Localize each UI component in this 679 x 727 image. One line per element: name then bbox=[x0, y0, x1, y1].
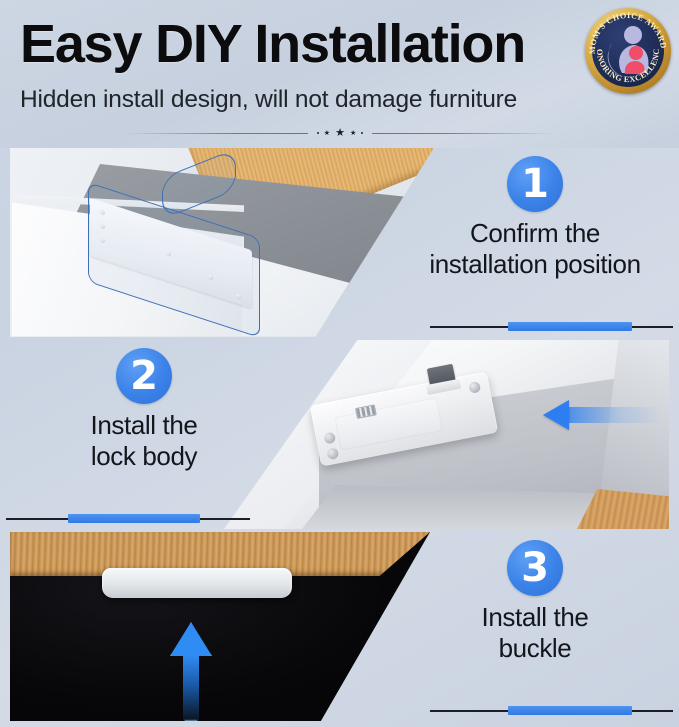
step-3-text-block: 3 Install the buckle bbox=[395, 532, 675, 721]
divider-bar-accent bbox=[508, 322, 632, 331]
arrow-tail bbox=[568, 407, 660, 423]
header-banner: Easy DIY Installation Hidden install des… bbox=[0, 0, 679, 148]
page-subtitle: Hidden install design, will not damage f… bbox=[20, 86, 640, 114]
lock-face-plate bbox=[334, 397, 443, 450]
install-direction-arrow-icon bbox=[170, 622, 212, 721]
badge-ring-text: MOM'S CHOICE AWARDS HONORING EXCELLENCE bbox=[585, 8, 671, 94]
step-3-divider-bar bbox=[430, 705, 673, 717]
step-1-caption-line-1: Confirm the bbox=[470, 218, 600, 248]
step-2-text-block: 2 Install the lock body bbox=[4, 340, 284, 529]
step-1-caption: Confirm the installation position bbox=[429, 218, 640, 279]
divider-bar-accent bbox=[508, 706, 632, 715]
step-3-panel: 3 Install the buckle bbox=[0, 532, 679, 721]
lock-port bbox=[323, 432, 336, 445]
moms-choice-awards-badge: MOM'S CHOICE AWARDS HONORING EXCELLENCE bbox=[585, 8, 671, 94]
buckle-component bbox=[102, 568, 292, 598]
step-2-caption-line-1: Install the bbox=[91, 410, 198, 440]
lock-port bbox=[326, 447, 339, 460]
step-1-divider-bar bbox=[430, 321, 673, 333]
step-3-number-badge: 3 bbox=[507, 540, 563, 596]
divider-stars: ★ ★ ★ bbox=[308, 128, 372, 139]
step-1-number-badge: 1 bbox=[507, 156, 563, 212]
step-3-caption-line-1: Install the bbox=[482, 602, 589, 632]
star-icon-small-right: ★ bbox=[350, 130, 356, 137]
step-2-panel: 2 Install the lock body bbox=[0, 340, 679, 529]
arrow-head bbox=[543, 400, 569, 430]
step-3-caption: Install the buckle bbox=[482, 602, 589, 663]
step-2-caption-line-2: lock body bbox=[91, 441, 198, 472]
star-icon-small-left: ★ bbox=[324, 130, 330, 137]
divider-bar-accent bbox=[68, 514, 200, 523]
star-divider: ★ ★ ★ bbox=[125, 126, 555, 140]
buckle-installation-photo bbox=[10, 532, 430, 721]
divider-dot-right bbox=[361, 132, 363, 134]
divider-line-right bbox=[372, 133, 555, 134]
star-icon-large: ★ bbox=[335, 128, 345, 139]
drawer-installation-position-photo bbox=[10, 148, 434, 337]
divider-dot-left bbox=[317, 132, 319, 134]
badge-top-text: MOM'S CHOICE AWARDS bbox=[585, 8, 668, 54]
product-infographic: Easy DIY Installation Hidden install des… bbox=[0, 0, 679, 727]
lock-body-installation-photo bbox=[224, 340, 669, 529]
step-3-caption-line-2: buckle bbox=[482, 633, 589, 664]
step-1-panel: 1 Confirm the installation position bbox=[0, 148, 679, 337]
step-1-caption-line-2: installation position bbox=[429, 249, 640, 280]
divider-line-left bbox=[125, 133, 308, 134]
step-2-divider-bar bbox=[6, 513, 250, 525]
step-2-number-badge: 2 bbox=[116, 348, 172, 404]
install-direction-arrow-icon bbox=[543, 398, 661, 432]
step-1-text-block: 1 Confirm the installation position bbox=[395, 148, 675, 337]
page-title: Easy DIY Installation bbox=[20, 16, 590, 73]
lock-port bbox=[468, 381, 481, 394]
step-2-caption: Install the lock body bbox=[91, 410, 198, 471]
